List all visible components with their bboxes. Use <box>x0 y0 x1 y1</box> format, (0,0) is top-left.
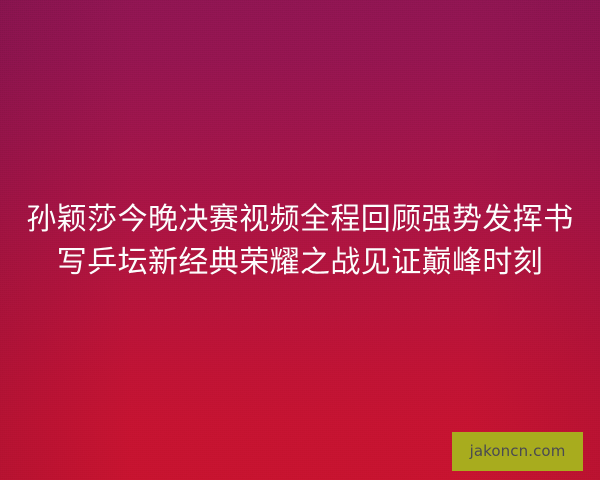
headline-line-1: 孙颖莎今晚决赛视频全程回顾强势发挥书 <box>0 198 600 241</box>
page-title: 孙颖莎今晚决赛视频全程回顾强势发挥书 写乒坛新经典荣耀之战见证巅峰时刻 <box>0 198 600 284</box>
watermark-badge: jakoncn.com <box>452 432 583 471</box>
banner-image: 孙颖莎今晚决赛视频全程回顾强势发挥书 写乒坛新经典荣耀之战见证巅峰时刻 jako… <box>0 0 600 480</box>
watermark-label: jakoncn.com <box>470 444 566 459</box>
headline-line-2: 写乒坛新经典荣耀之战见证巅峰时刻 <box>0 241 600 284</box>
